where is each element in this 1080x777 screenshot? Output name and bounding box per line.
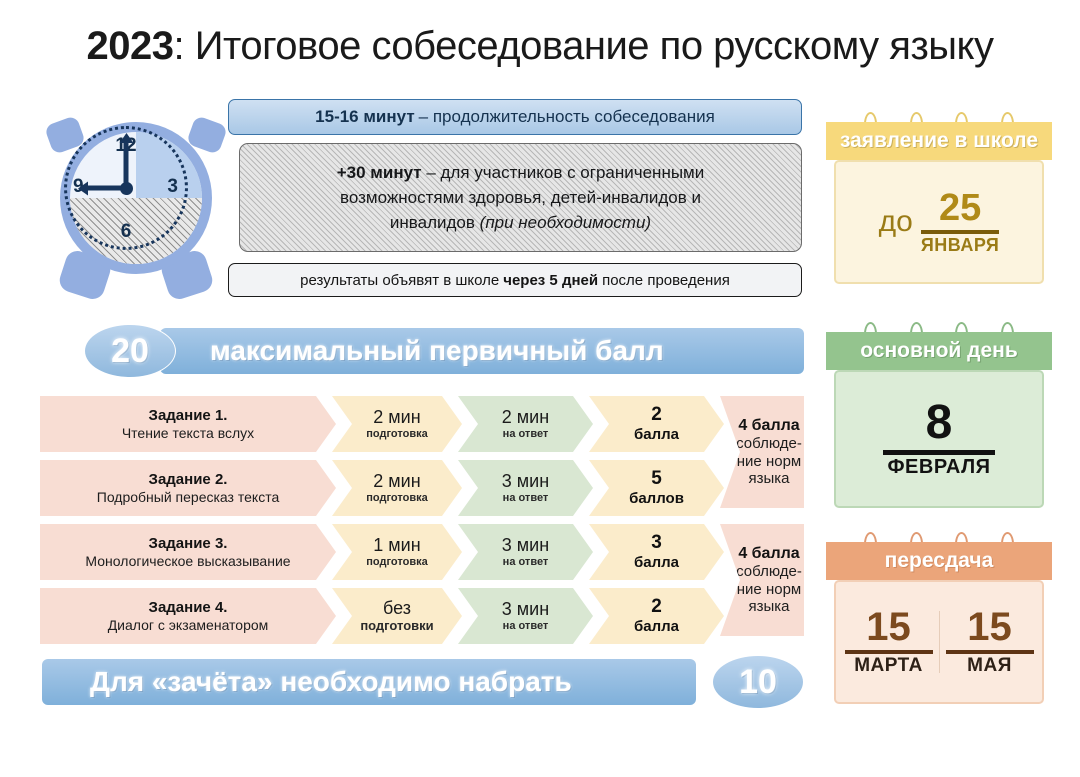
prep-time-label: подготовка	[366, 556, 427, 569]
clock-body: 12 3 6 9	[60, 122, 212, 274]
language-norms-label-line: соблюде-	[736, 563, 802, 580]
calendar-date-rule	[921, 230, 1000, 234]
score-word: балла	[634, 554, 679, 571]
calendar-main-day-day: 8	[926, 399, 953, 447]
language-norms-label-line: соблюде-	[736, 435, 802, 452]
calendar-main-day-month: ФЕВРАЛЯ	[887, 456, 990, 479]
answer-time-value: 2 мин	[502, 407, 549, 428]
score-cell: 2балла	[589, 588, 724, 644]
extra-time-line2: возможностями здоровья, детей-инвалидов …	[340, 187, 701, 208]
task-number: Задание 4.	[149, 599, 228, 616]
answer-time-cell: 3 минна ответ	[458, 460, 593, 516]
prep-time-cell: 1 минподготовка	[332, 524, 462, 580]
prep-time-value: 2 мин	[373, 471, 420, 492]
language-norms-cell: 4 балласоблюде-ние нормязыка	[720, 396, 804, 508]
language-norms-value: 4 балла	[738, 545, 799, 563]
prep-time-cell: безподготовки	[332, 588, 462, 644]
language-norms-label-line: ние норм	[737, 453, 801, 470]
answer-time-cell: 3 минна ответ	[458, 588, 593, 644]
max-score-banner: максимальный первичный балл 20	[42, 324, 804, 378]
language-norms-label-line: языка	[748, 598, 789, 615]
calendar-main-day-header: основной день	[826, 332, 1052, 370]
score-cell: 3балла	[589, 524, 724, 580]
prep-time-value: 1 мин	[373, 535, 420, 556]
calendar-date-rule	[946, 650, 1034, 654]
score-word: баллов	[629, 490, 684, 507]
prep-time-value: без	[383, 598, 411, 619]
results-callout: результаты объявят в школе через 5 дней …	[228, 263, 802, 297]
language-norms-value: 4 балла	[738, 417, 799, 435]
task-name: Чтение текста вслух	[122, 425, 254, 441]
table-row: Задание 1.Чтение текста вслух2 минподгот…	[40, 396, 804, 452]
task-number: Задание 2.	[149, 471, 228, 488]
task-cell: Задание 3.Монологическое высказывание	[40, 524, 336, 580]
alarm-clock-icon: 12 3 6 9	[46, 108, 226, 298]
clock-number-6: 6	[121, 221, 132, 243]
clock-pivot	[120, 182, 133, 195]
prep-time-cell: 2 минподготовка	[332, 396, 462, 452]
max-score-label: максимальный первичный балл	[160, 328, 804, 374]
score-value: 5	[651, 468, 662, 490]
calendar-main-day-date: 8 ФЕВРАЛЯ	[883, 399, 995, 479]
calendar-application-prefix: до	[879, 205, 913, 239]
task-cell: Задание 2.Подробный пересказ текста	[40, 460, 336, 516]
calendar-main-day-body: 8 ФЕВРАЛЯ	[834, 370, 1044, 508]
answer-time-label: на ответ	[503, 556, 549, 569]
calendar-application-date: 25 ЯНВАРЯ	[921, 189, 1000, 256]
answer-time-cell: 2 минна ответ	[458, 396, 593, 452]
task-breakdown-table: Задание 1.Чтение текста вслух2 минподгот…	[40, 396, 804, 644]
calendar-retake: пересдача 15 МАРТА 15 МАЯ	[826, 532, 1052, 710]
answer-time-label: на ответ	[503, 492, 549, 505]
max-score-badge: 20	[84, 324, 176, 378]
extra-time-value: +30 минут	[337, 163, 422, 182]
clock-dot-ring: 12 3 6 9	[64, 126, 188, 250]
table-row: Задание 4.Диалог с экзаменаторомбезподго…	[40, 588, 804, 644]
results-before: результаты объявят в школе	[300, 272, 499, 289]
calendar-retake-divider	[939, 611, 940, 673]
task-name: Подробный пересказ текста	[97, 489, 279, 505]
title-rest: : Итоговое собеседование по русскому язы…	[174, 24, 994, 68]
extra-time-note: (при необходимости)	[480, 213, 651, 232]
task-cell: Задание 1.Чтение текста вслух	[40, 396, 336, 452]
answer-time-value: 3 мин	[502, 535, 549, 556]
calendar-main-day: основной день 8 ФЕВРАЛЯ	[826, 322, 1052, 512]
language-norms-label-line: ние норм	[737, 581, 801, 598]
clock-minute-hand	[124, 140, 129, 188]
calendar-retake-date-2: 15 МАЯ	[946, 607, 1034, 677]
task-number: Задание 3.	[149, 535, 228, 552]
score-cell: 2балла	[589, 396, 724, 452]
calendar-retake-body: 15 МАРТА 15 МАЯ	[834, 580, 1044, 704]
answer-time-label: на ответ	[503, 620, 549, 633]
duration-callout: 15-16 минут – продолжительность собеседо…	[228, 99, 802, 135]
answer-time-value: 3 мин	[502, 471, 549, 492]
calendar-application-month: ЯНВАРЯ	[921, 235, 1000, 256]
score-value: 2	[651, 596, 662, 618]
score-value: 2	[651, 404, 662, 426]
score-word: балла	[634, 618, 679, 635]
calendar-retake-date-1: 15 МАРТА	[845, 607, 933, 677]
task-name: Монологическое высказывание	[85, 553, 290, 569]
calendar-retake-month-1: МАРТА	[854, 655, 923, 677]
results-after: после проведения	[602, 272, 730, 289]
task-cell: Задание 4.Диалог с экзаменатором	[40, 588, 336, 644]
task-number: Задание 1.	[149, 407, 228, 424]
duration-value: 15-16 минут	[315, 107, 415, 127]
answer-time-cell: 3 минна ответ	[458, 524, 593, 580]
score-cell: 5баллов	[589, 460, 724, 516]
calendar-retake-header: пересдача	[826, 542, 1052, 580]
prep-time-label: подготовки	[360, 619, 433, 634]
score-word: балла	[634, 426, 679, 443]
prep-time-label: подготовка	[366, 492, 427, 505]
task-name: Диалог с экзаменатором	[108, 617, 269, 633]
calendar-retake-day-2: 15	[967, 607, 1012, 647]
calendar-retake-month-2: МАЯ	[967, 655, 1012, 677]
language-norms-cell: 4 балласоблюде-ние нормязыка	[720, 524, 804, 636]
calendar-application-body: до 25 ЯНВАРЯ	[834, 160, 1044, 284]
extra-time-callout: +30 минут – для участников с ограниченны…	[239, 143, 802, 252]
pass-score-banner: Для «зачёта» необходимо набрать 10	[42, 655, 804, 709]
calendar-application-header: заявление в школе	[826, 122, 1052, 160]
prep-time-label: подготовка	[366, 428, 427, 441]
pass-score-badge: 10	[712, 655, 804, 709]
duration-label: – продолжительность собеседования	[419, 107, 715, 127]
calendar-retake-day-1: 15	[866, 607, 911, 647]
page-title: 2023: Итоговое собеседование по русскому…	[0, 24, 1080, 69]
extra-time-line3: инвалидов	[390, 213, 475, 232]
title-year: 2023	[87, 24, 174, 68]
calendar-application: заявление в школе до 25 ЯНВАРЯ	[826, 112, 1052, 290]
calendar-date-rule	[845, 650, 933, 654]
answer-time-label: на ответ	[503, 428, 549, 441]
answer-time-value: 3 мин	[502, 599, 549, 620]
results-delay: через 5 дней	[503, 272, 598, 289]
calendar-application-day: 25	[939, 189, 981, 227]
language-norms-label-line: языка	[748, 470, 789, 487]
pass-score-label: Для «зачёта» необходимо набрать	[42, 659, 696, 705]
prep-time-value: 2 мин	[373, 407, 420, 428]
table-row: Задание 2.Подробный пересказ текста2 мин…	[40, 460, 804, 516]
prep-time-cell: 2 минподготовка	[332, 460, 462, 516]
extra-time-line1: – для участников с ограниченными	[426, 163, 704, 182]
table-row: Задание 3.Монологическое высказывание1 м…	[40, 524, 804, 580]
clock-number-3: 3	[167, 176, 178, 198]
calendar-date-rule	[883, 450, 995, 455]
score-value: 3	[651, 532, 662, 554]
